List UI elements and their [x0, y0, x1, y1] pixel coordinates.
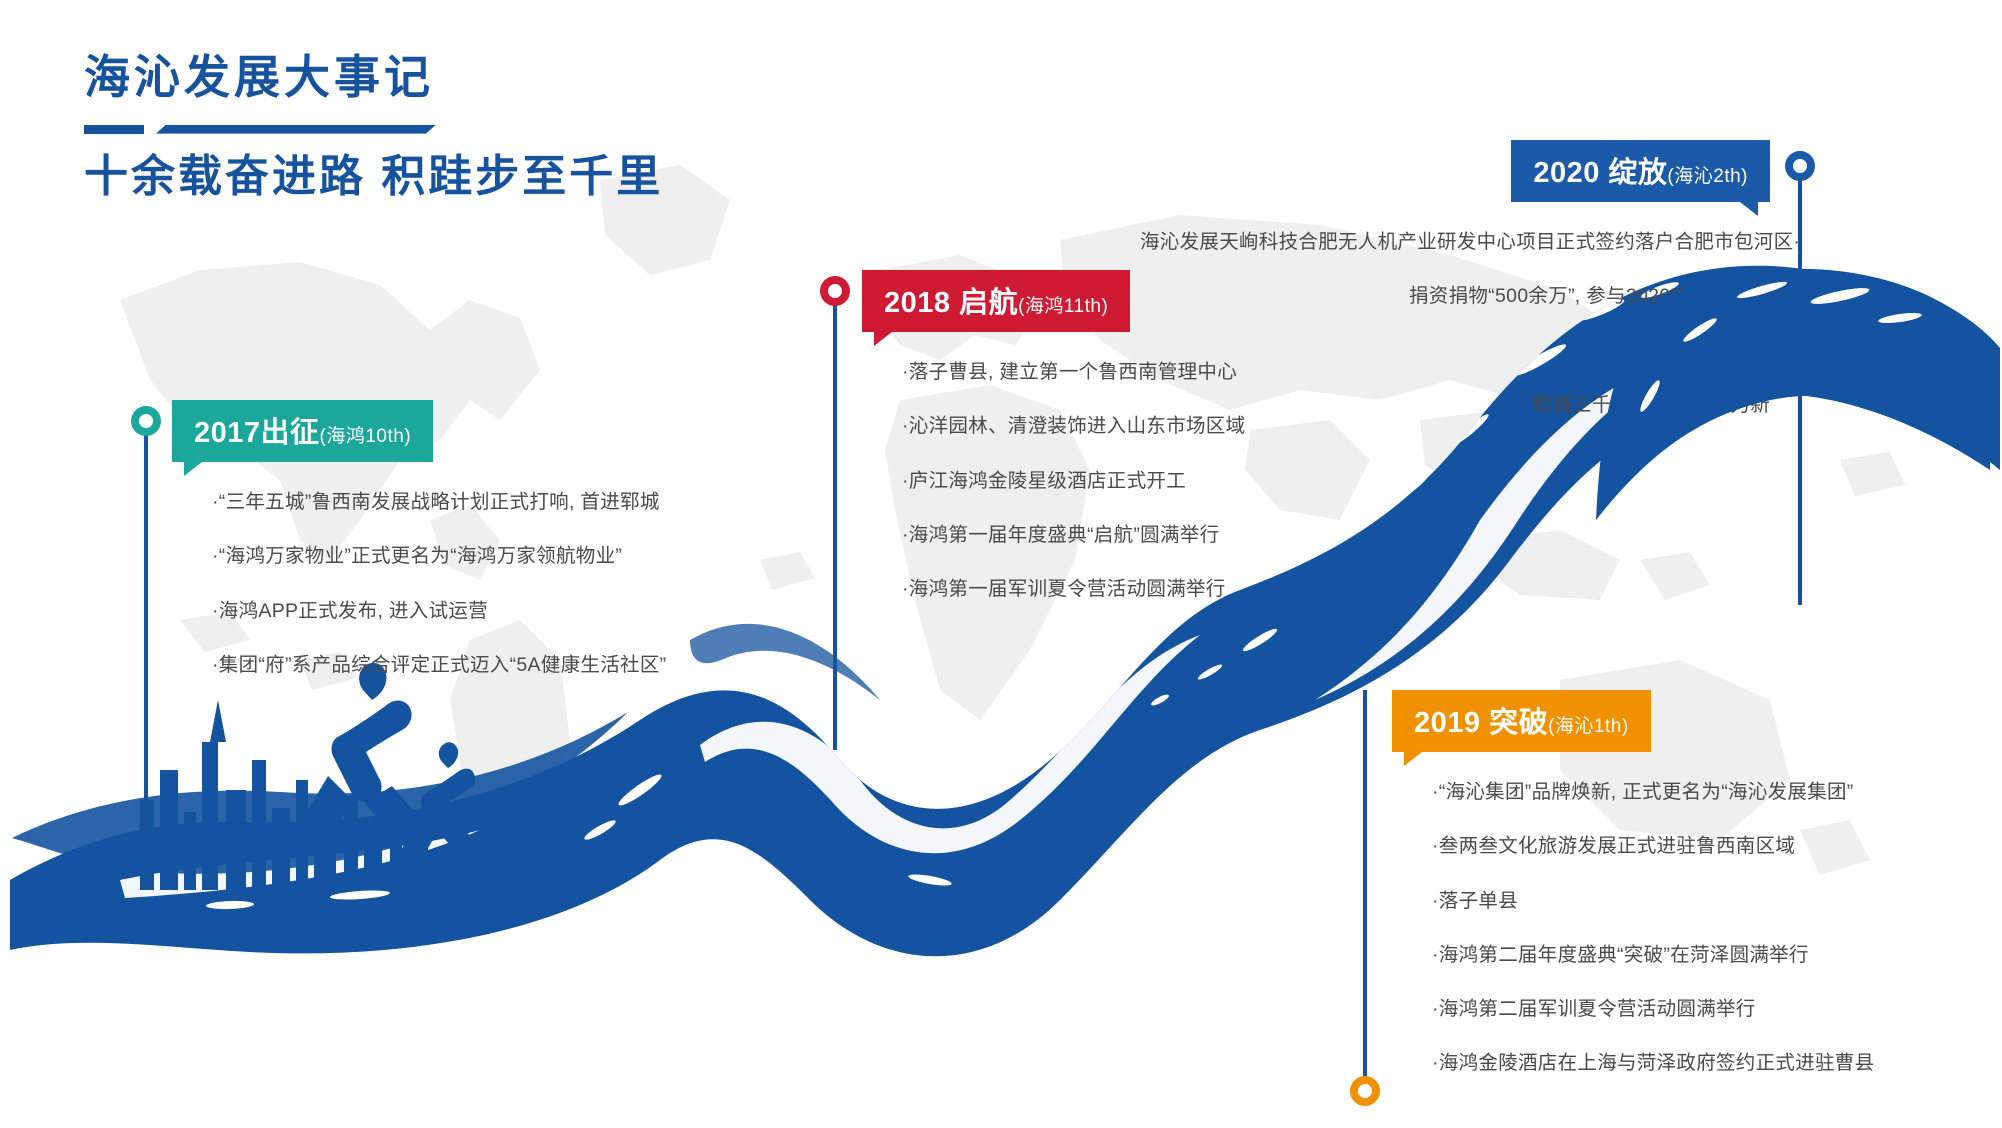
- badge-sub-2019: (海沁1th): [1548, 716, 1629, 737]
- timeline-marker-2018[interactable]: [820, 276, 850, 306]
- connector-line-2019: [1363, 690, 1367, 1090]
- list-item: ·“海鸿万家物业”正式更名为“海鸿万家领航物业”: [212, 542, 666, 571]
- timeline-items-2019: ·“海沁集团”品牌焕新, 正式更名为“海沁发展集团” ·叁两叁文化旅游发展正式进…: [1392, 778, 1874, 1079]
- timeline-badge-2019[interactable]: 2019 突破(海沁1th): [1392, 690, 1651, 752]
- badge-sub-2018: (海鸿11th): [1018, 296, 1108, 317]
- connector-line-2017: [144, 420, 148, 890]
- timeline-items-2020: 海沁发展天峋科技合肥无人机产业研发中心项目正式签约落户合肥市包河区· 捐资捐物“…: [1100, 228, 1770, 420]
- header-block: 海沁发展大事记 十余载奋进路 积跬步至千里: [84, 52, 663, 201]
- infographic-canvas: 海沁发展大事记 十余载奋进路 积跬步至千里 2017出征(海鸿10th) ·“三…: [0, 0, 2002, 1128]
- timeline-card-2019: 2019 突破(海沁1th) ·“海沁集团”品牌焕新, 正式更名为“海沁发展集团…: [1392, 690, 1874, 1095]
- page-subtitle: 十余载奋进路 积跬步至千里: [84, 153, 663, 201]
- list-item: ·海鸿第二届年度盛典“突破”在菏泽圆满举行: [1432, 941, 1874, 970]
- list-item: ·庐江海鸿金陵星级酒店正式开工: [902, 467, 1245, 496]
- timeline-badge-2020[interactable]: 2020 绽放(海沁2th): [1511, 140, 1770, 202]
- connector-line-2018: [833, 290, 837, 750]
- divider-bar: [156, 125, 436, 134]
- timeline-items-2017: ·“三年五城”鲁西南发展战略计划正式打响, 首进郓城 ·“海鸿万家物业”正式更名…: [172, 488, 666, 680]
- badge-sub-2020: (海沁2th): [1667, 166, 1748, 187]
- timeline-badge-2017[interactable]: 2017出征(海鸿10th): [172, 400, 433, 462]
- divider-dash: [84, 125, 144, 134]
- list-item: 落子郓城、灵: [1140, 337, 1770, 366]
- list-item: ·“三年五城”鲁西南发展战略计划正式打响, 首进郓城: [212, 488, 666, 517]
- timeline-marker-2020[interactable]: [1785, 151, 1815, 181]
- title-divider: [84, 125, 436, 135]
- timeline-badge-2018[interactable]: 2018 启航(海鸿11th): [862, 270, 1130, 332]
- list-item: ·海鸿金陵酒店在上海与菏泽政府签约正式进驻曹县: [1432, 1049, 1874, 1078]
- badge-year-2020: 2020 绽放: [1533, 157, 1667, 189]
- list-item: ·叁两叁文化旅游发展正式进驻鲁西南区域: [1432, 832, 1874, 861]
- list-item: 捐资捐物“500余万”, 参与2020“抗疫之战”·: [1140, 282, 1770, 311]
- list-item: ·落子单县: [1432, 887, 1874, 916]
- badge-year-2017: 2017出征: [194, 417, 320, 449]
- list-item: ·海鸿APP正式发布, 进入试运营: [212, 597, 666, 626]
- list-item: 海沁发展天峋科技合肥无人机产业研发中心项目正式签约落户合肥市包河区·: [1140, 228, 1770, 257]
- list-item: ·“海沁集团”品牌焕新, 正式更名为“海沁发展集团”: [1432, 778, 1874, 807]
- list-item: ·海鸿第二届军训夏令营活动圆满举行: [1432, 995, 1874, 1024]
- badge-year-2018: 2018 启航: [884, 287, 1018, 319]
- badge-year-2019: 2019 突破: [1414, 707, 1548, 739]
- timeline-card-2017: 2017出征(海鸿10th) ·“三年五城”鲁西南发展战略计划正式打响, 首进郓…: [172, 400, 666, 696]
- list-item: 郓城三千亩海鸿文旅活力新: [1140, 391, 1770, 420]
- badge-sub-2017: (海鸿10th): [320, 426, 412, 447]
- timeline-card-2020: 2020 绽放(海沁2th) 海沁发展天峋科技合肥无人机产业研发中心项目正式签约…: [1100, 140, 1770, 436]
- timeline-marker-2019[interactable]: [1350, 1076, 1380, 1106]
- list-item: ·海鸿第一届军训夏令营活动圆满举行: [902, 575, 1245, 604]
- list-item: ·集团“府”系产品综合评定正式迈入“5A健康生活社区”: [212, 651, 666, 680]
- list-item: ·海鸿第一届年度盛典“启航”圆满举行: [902, 521, 1245, 550]
- timeline-marker-2017[interactable]: [131, 406, 161, 436]
- page-title: 海沁发展大事记: [84, 52, 663, 103]
